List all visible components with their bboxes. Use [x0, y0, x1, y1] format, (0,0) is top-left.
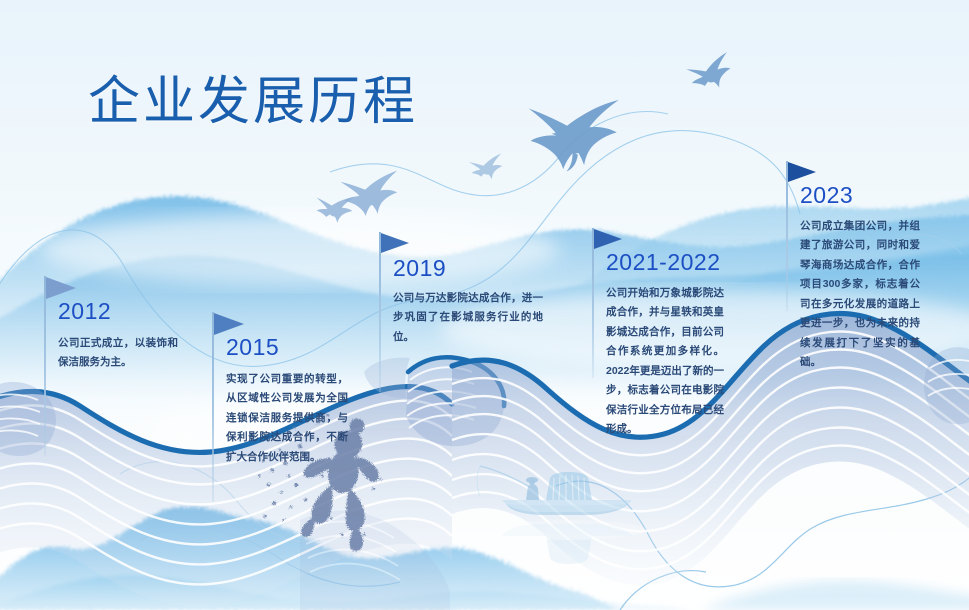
milestone-year: 2023: [800, 182, 853, 209]
milestone-description: 公司与万达影院达成合作，进一步巩固了在影城服务行业的地位。: [393, 289, 543, 347]
flag-banner: [214, 313, 244, 335]
milestone-description: 公司开始和万象城影院达成合作，并与星轶和英皇影城达成合作，目前公司合作系统更加多…: [606, 284, 724, 439]
milestone-description: 公司成立集团公司，并组建了旅游公司，同时和爱琴海商场达成合作，合作项目300多家…: [800, 217, 920, 372]
milestone-description: 公司正式成立，以装饰和保洁服务为主。: [58, 334, 178, 373]
milestone-description: 实现了公司重要的转型，从区域性公司发展为全国连锁保洁服务提供商，与保利影院达成合…: [226, 370, 348, 467]
poster-canvas: 企业发展历程 2012 公司正式成立，以装饰和保洁服务为主。 2015 实现了公…: [0, 0, 969, 610]
milestone-year: 2021-2022: [606, 249, 721, 276]
flag-pole: [786, 161, 788, 311]
flag-banner: [381, 233, 409, 253]
page-title: 企业发展历程: [88, 59, 418, 134]
milestone-year: 2019: [393, 255, 446, 282]
milestone-year: 2015: [226, 334, 279, 361]
flag-banner: [594, 229, 622, 249]
flag-pole: [592, 228, 594, 378]
flag-pole: [212, 312, 214, 502]
flag-banner: [788, 162, 816, 182]
flag-pole: [44, 276, 46, 456]
flag-banner: [46, 277, 76, 299]
flag-pole: [379, 232, 381, 392]
milestone-year: 2012: [58, 298, 111, 325]
